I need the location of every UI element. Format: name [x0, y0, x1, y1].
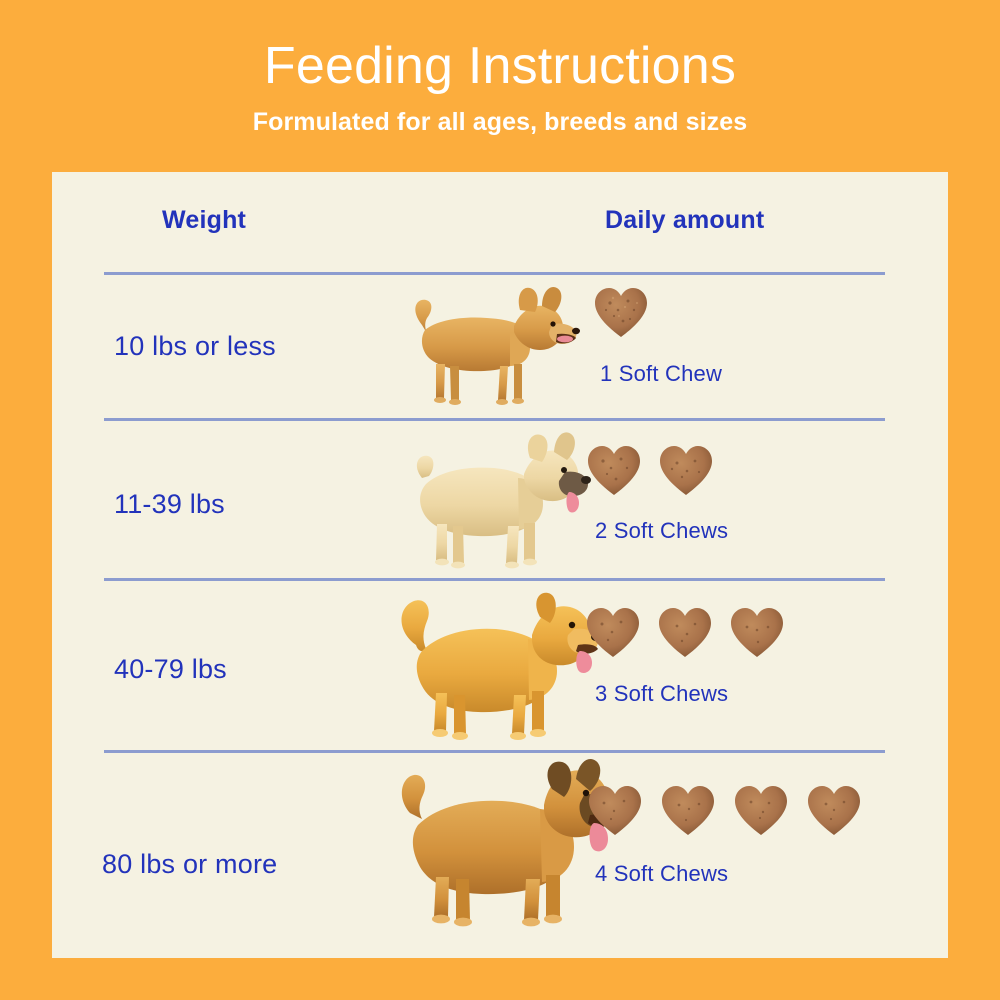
daily-amount-value: 1 Soft Chew: [600, 361, 722, 387]
page-header: Feeding Instructions Formulated for all …: [0, 0, 1000, 172]
soft-chew-icon: [586, 781, 644, 839]
chew-group: [584, 603, 786, 661]
daily-amount-value: 3 Soft Chews: [595, 681, 728, 707]
weight-value: 11-39 lbs: [114, 489, 384, 520]
weight-value: 10 lbs or less: [114, 331, 384, 362]
soft-chew-icon: [592, 283, 650, 341]
daily-amount-value: 2 Soft Chews: [595, 518, 728, 544]
page-subtitle: Formulated for all ages, breeds and size…: [0, 94, 1000, 137]
chew-group: [592, 283, 650, 341]
chew-group: [586, 781, 863, 839]
weight-value: 40-79 lbs: [114, 654, 384, 685]
table-row: 10 lbs or less: [52, 275, 948, 421]
dog-mastiff-icon: [380, 753, 620, 931]
soft-chew-icon: [805, 781, 863, 839]
dog-chihuahua-icon: [392, 280, 582, 410]
soft-chew-icon: [657, 441, 715, 499]
soft-chew-icon: [728, 603, 786, 661]
daily-amount-value: 4 Soft Chews: [595, 861, 728, 887]
chew-group: [585, 441, 715, 499]
column-header-daily-amount: Daily amount: [605, 206, 764, 235]
table-row: 40-79 lbs: [52, 581, 948, 753]
page-title: Feeding Instructions: [0, 0, 1000, 94]
soft-chew-icon: [585, 441, 643, 499]
dog-golden-retriever-icon: [382, 581, 600, 746]
table-row: 11-39 lbs: [52, 421, 948, 581]
feeding-table-card: Weight Daily amount 10 lbs or less: [52, 172, 948, 958]
soft-chew-icon: [656, 603, 714, 661]
column-header-weight: Weight: [162, 206, 246, 235]
dog-french-bulldog-icon: [390, 426, 595, 574]
weight-value: 80 lbs or more: [102, 849, 372, 880]
soft-chew-icon: [584, 603, 642, 661]
table-row: 80 lbs or more: [52, 753, 948, 958]
soft-chew-icon: [659, 781, 717, 839]
soft-chew-icon: [732, 781, 790, 839]
table-header-row: Weight Daily amount: [52, 172, 948, 272]
